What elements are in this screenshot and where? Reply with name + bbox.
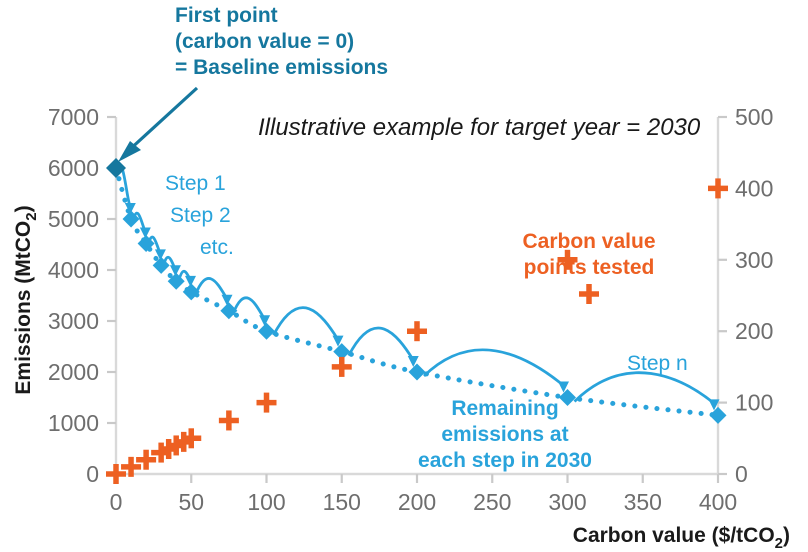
x-tick-label: 100 [247, 489, 285, 515]
first-point-leader-line [127, 88, 197, 152]
step-arc-arrowhead-icon [259, 315, 270, 326]
y-tick-label: 7000 [48, 104, 99, 130]
emissions-diamond-marker [258, 323, 275, 340]
carbon-points-line1: Carbon value [522, 230, 655, 253]
emissions-diamond-marker [559, 389, 576, 406]
emissions-diamond-marker [710, 407, 727, 424]
x-tick-label: 150 [323, 489, 361, 515]
step-n-label: Step n [627, 352, 688, 375]
remaining-line2: emissions at [441, 423, 568, 446]
y-axis-title-text: Emissions (MtCO [12, 221, 35, 395]
y-tick-label: 3000 [48, 308, 99, 334]
y-tick-label: 1000 [48, 410, 99, 436]
first-point-callout-line2: (carbon value = 0) [175, 30, 354, 53]
x-tick-label: 250 [473, 489, 511, 515]
carbon-value-points-callout: Carbon value points tested [522, 230, 655, 279]
step-2-label: Step 2 [170, 204, 231, 227]
x-axis-title-end: ) [783, 524, 790, 547]
y-tick-label: 0 [86, 461, 99, 487]
first-point-callout-line3: = Baseline emissions [175, 56, 388, 79]
step-arc [575, 373, 715, 404]
x-tick-label: 0 [110, 489, 123, 515]
carbon-value-plus-marker [332, 357, 352, 377]
etc-label: etc. [200, 236, 234, 259]
y-tick-label: 4000 [48, 257, 99, 283]
emissions-diamond-marker [409, 364, 426, 381]
carbon-value-plus-marker [407, 321, 427, 341]
step-1-label: Step 1 [165, 172, 226, 195]
y-tick-label-right: 0 [735, 461, 748, 487]
emissions-diamond-marker [183, 283, 200, 300]
y-tick-label-right: 400 [735, 175, 773, 201]
chart-figure: 0100020003000400050006000700001002003004… [0, 0, 808, 552]
y-tick-label-right: 300 [735, 247, 773, 273]
x-axis-title: Carbon value ($/tCO2) [573, 524, 790, 552]
y-axis-title-sub: 2 [23, 212, 40, 220]
carbon-value-plus-marker [219, 410, 239, 430]
carbon-value-plus-marker [708, 178, 728, 198]
x-tick-label: 300 [548, 489, 586, 515]
remaining-emissions-callout: Remaining emissions at each step in 2030 [418, 397, 592, 472]
y-tick-label-right: 100 [735, 390, 773, 416]
x-tick-label: 200 [398, 489, 436, 515]
y-tick-label-right: 200 [735, 318, 773, 344]
step-arc [424, 350, 564, 386]
carbon-points-legend-plus-icon [579, 284, 599, 304]
x-tick-label: 350 [624, 489, 662, 515]
y-tick-label: 6000 [48, 155, 99, 181]
remaining-line3: each step in 2030 [418, 449, 592, 472]
y-tick-label: 2000 [48, 359, 99, 385]
x-tick-label: 50 [178, 489, 204, 515]
x-axis-title-text: Carbon value ($/tCO [573, 524, 775, 547]
x-axis-title-sub: 2 [775, 535, 783, 552]
svg-text:Emissions (MtCO2): Emissions (MtCO2) [12, 205, 40, 394]
y-axis-title-end: ) [12, 205, 35, 212]
first-point-callout-line1: First point [175, 4, 278, 27]
y-tick-label-right: 500 [735, 104, 773, 130]
carbon-points-line2: points tested [524, 256, 655, 279]
y-tick-label: 5000 [48, 206, 99, 232]
carbon-value-plus-marker [257, 393, 277, 413]
y-axis-title: Emissions (MtCO2) [12, 205, 40, 394]
chart-subtitle: Illustrative example for target year = 2… [258, 114, 701, 141]
remaining-emissions-markers [106, 158, 727, 424]
step-arc [274, 308, 338, 340]
remaining-line1: Remaining [451, 397, 558, 420]
x-tick-label: 400 [699, 489, 737, 515]
chart-svg: 0100020003000400050006000700001002003004… [0, 0, 808, 552]
step-arc [349, 328, 413, 360]
step-arc-arrowhead-icon [221, 295, 232, 306]
